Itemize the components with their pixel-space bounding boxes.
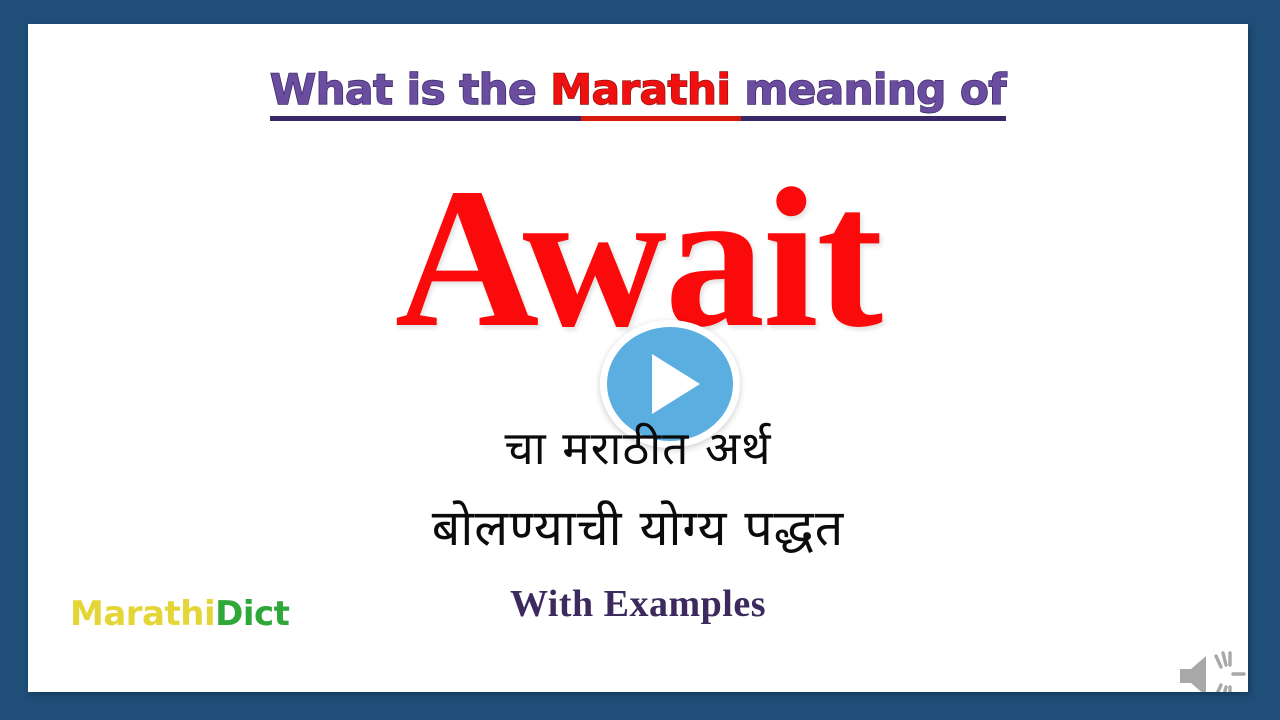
underline-segment-red [581, 116, 741, 121]
heading-underline [270, 116, 1006, 121]
brand-logo: MarathiDict [70, 594, 289, 634]
heading-part-3: meaning of [730, 65, 1006, 114]
marathi-line-2: बोलण्याची योग्य पद्धत [28, 492, 1248, 560]
marathi-line-1: चा मराठीत अर्थ [28, 416, 1248, 478]
page-title: What is the Marathi meaning of [270, 68, 1006, 112]
heading-part-marathi: Marathi [550, 65, 730, 114]
speaker-volume-icon[interactable] [1176, 650, 1248, 692]
underline-segment-purple-right [741, 116, 1006, 121]
heading-container: What is the Marathi meaning of [28, 68, 1248, 112]
play-triangle-icon [652, 354, 700, 414]
video-slide: What is the Marathi meaning of Await चा … [0, 0, 1280, 720]
slide-content-card: What is the Marathi meaning of Await चा … [28, 24, 1248, 692]
logo-text-marathi: Marathi [70, 594, 215, 634]
heading-part-1: What is the [270, 65, 550, 114]
logo-text-dict: Dict [215, 594, 289, 634]
underline-segment-purple-left [270, 116, 581, 121]
